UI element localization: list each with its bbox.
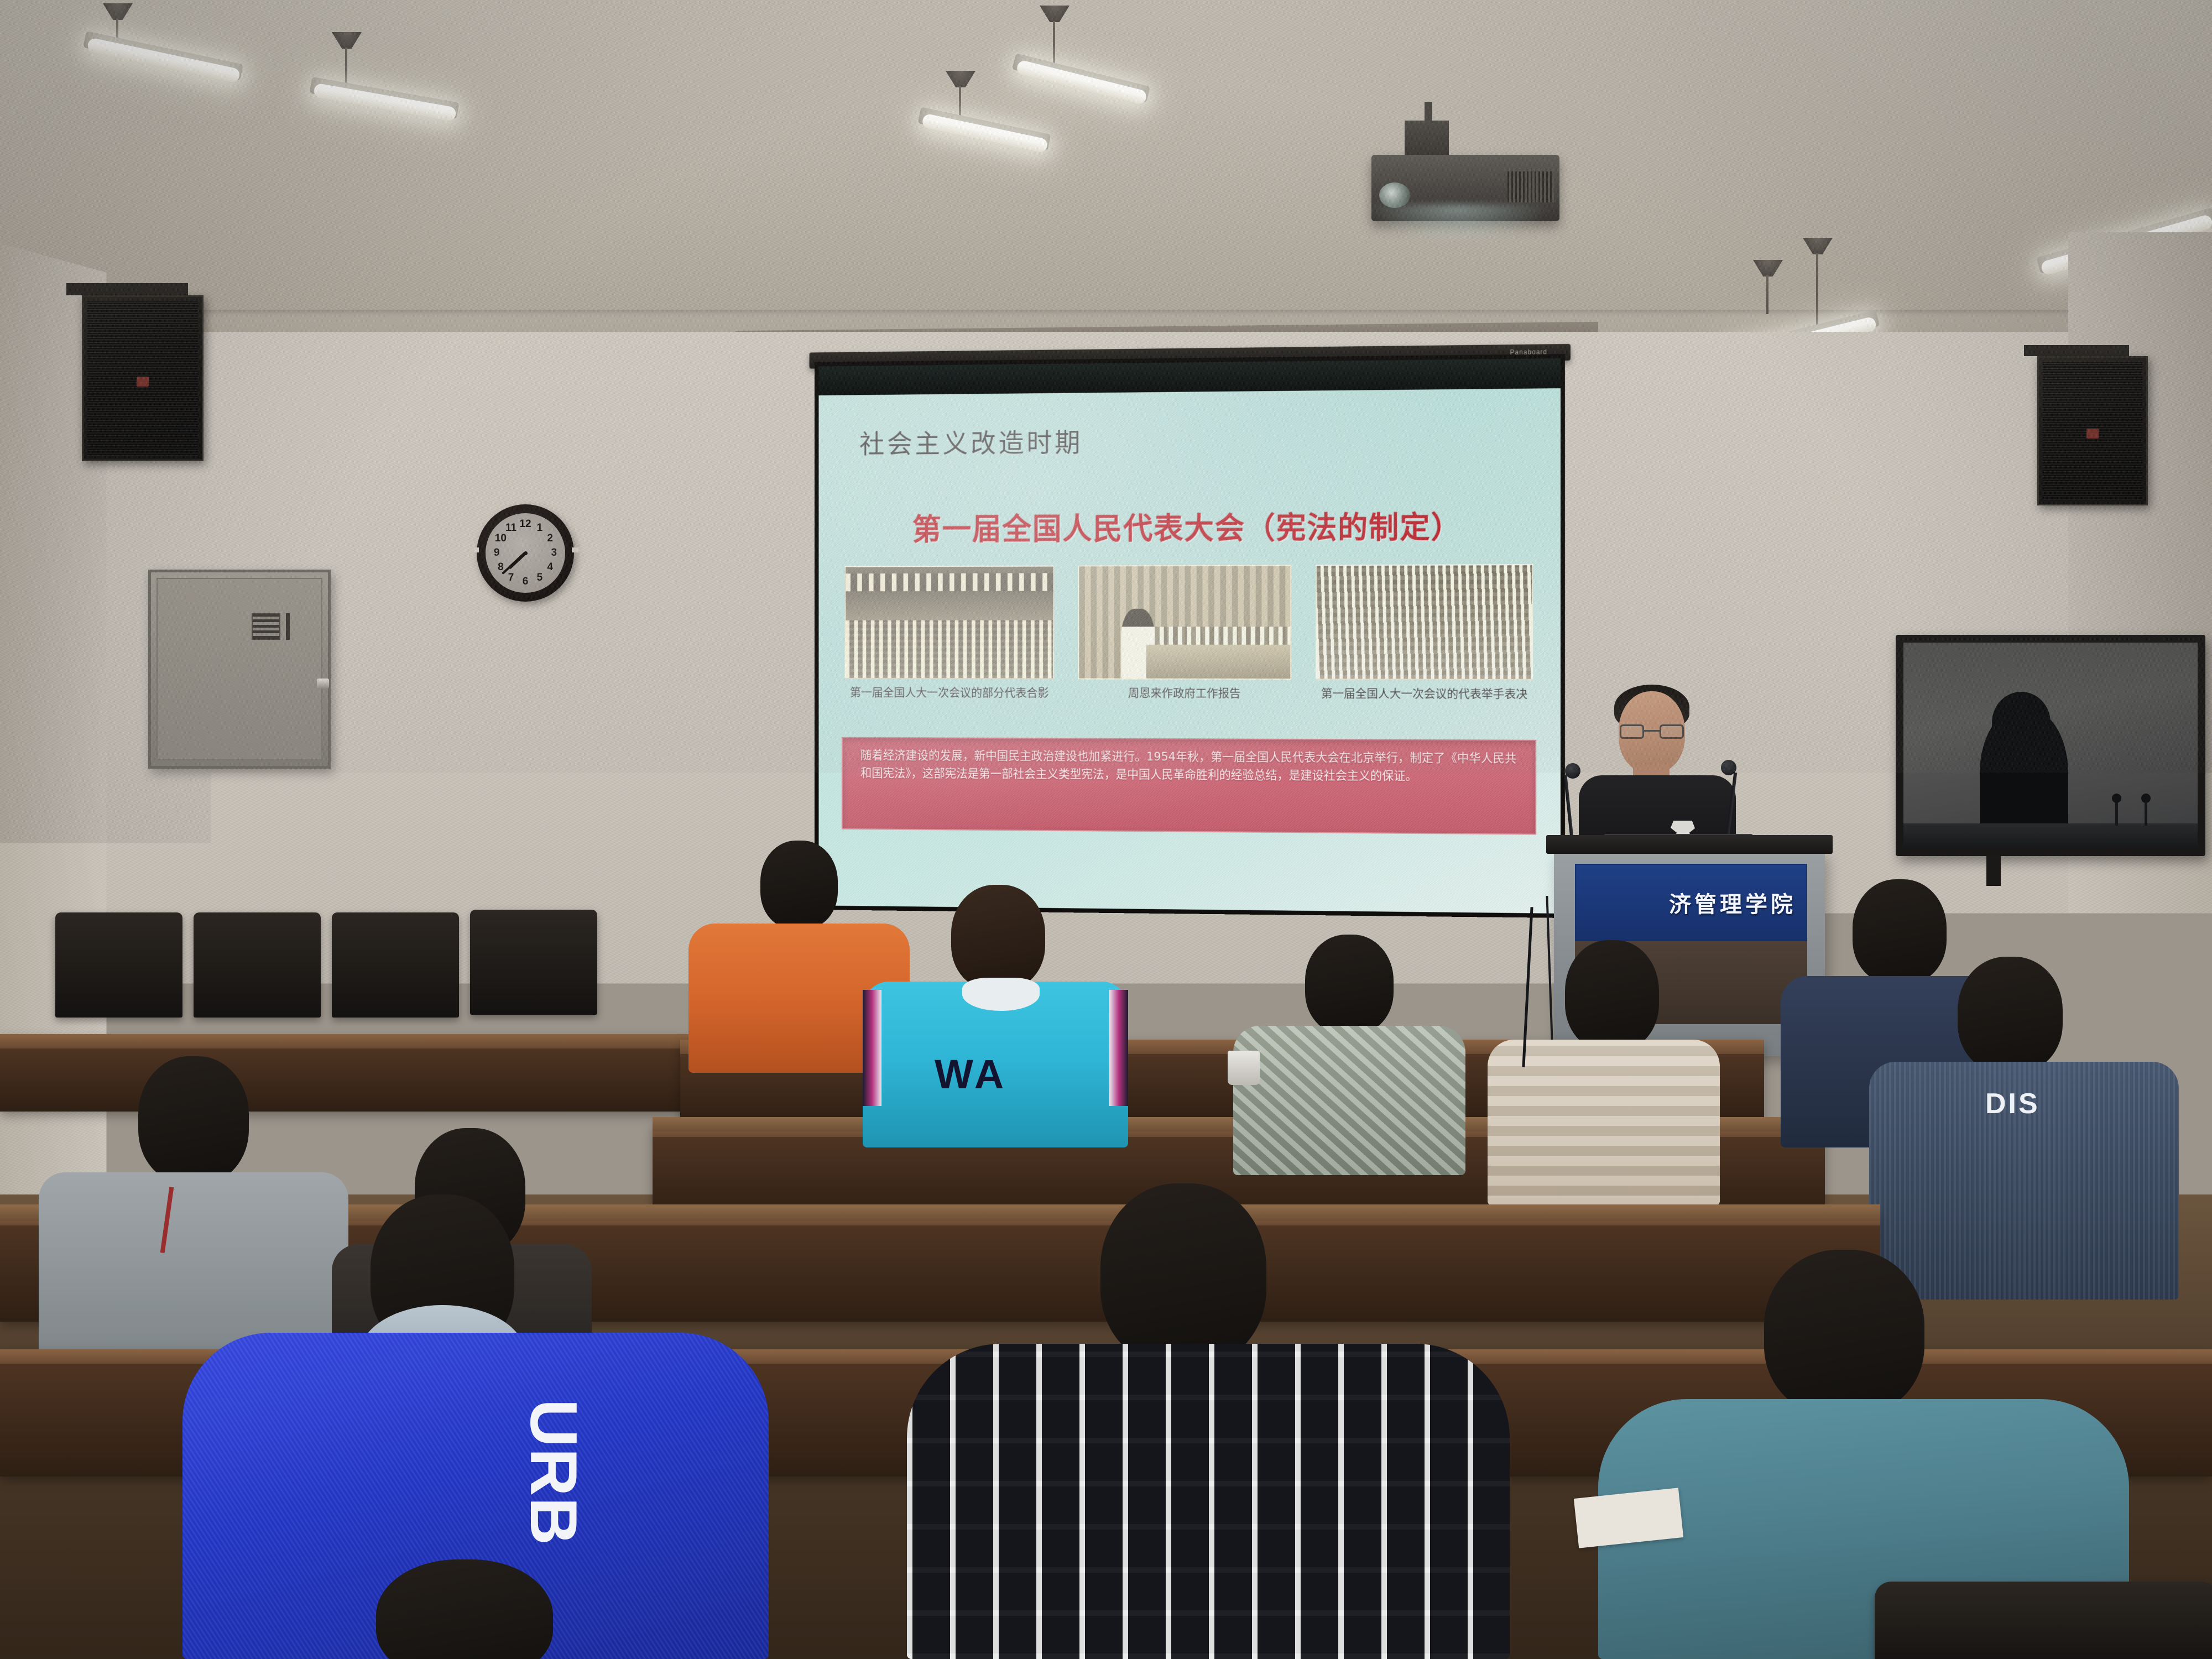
- water-cup[interactable]: [1228, 1051, 1260, 1085]
- student-head: [1305, 935, 1394, 1034]
- podium-top-slab: [1546, 835, 1833, 854]
- clock-numeral: 4: [547, 561, 553, 573]
- historic-raised-hands: [1317, 565, 1532, 679]
- projector-vent: [1507, 171, 1554, 202]
- seatback-front-far-right[interactable]: [1875, 1582, 2212, 1659]
- denim-jacket-text: DIS: [1985, 1087, 2040, 1120]
- slide-caption-2: 周恩来作政府工作报告: [1078, 685, 1291, 735]
- clock-numeral: 1: [537, 522, 543, 534]
- student-bottom-center: [343, 1559, 586, 1659]
- presentation-slide: 社会主义改造时期 第一届全国人民代表大会（宪法的制定） 第一届全国人大一次会议的…: [819, 388, 1561, 914]
- lecture-hall-scene: 12 1 2 3 4 5 6 7 8 9 10 11 Panaboard: [0, 0, 2212, 1659]
- seatback[interactable]: [332, 912, 459, 1018]
- clock-numeral: 12: [519, 518, 531, 530]
- cabinet-slot: [286, 613, 290, 640]
- student-head: [760, 841, 838, 929]
- podium-banner-text: 济管理学院: [1669, 886, 1796, 919]
- seatback-front-right[interactable]: [1172, 1571, 1725, 1659]
- clock-numeral: 3: [551, 547, 557, 559]
- student-head: [1958, 957, 2063, 1073]
- clock-lug-left: [472, 547, 479, 552]
- slide-caption-1: 第一届全国人大一次会议的部分代表合影: [845, 684, 1055, 734]
- podium-banner: 济管理学院: [1575, 864, 1807, 941]
- slide-title: 第一届全国人民代表大会（宪法的制定）: [819, 502, 1561, 549]
- projection-screen: Panaboard 社会主义改造时期 第一届全国人民代表大会（宪法的制定）: [815, 354, 1565, 918]
- projector-light-glow: [1366, 205, 1548, 243]
- student-cyan-jersey: WA: [863, 885, 1128, 1145]
- historic-audience-row: [1150, 627, 1290, 647]
- student-head: [1565, 940, 1659, 1051]
- clock-numeral: 2: [547, 533, 553, 545]
- podium-mic-head-left: [1565, 763, 1580, 779]
- glasses-lens-left: [1620, 724, 1644, 739]
- speaker-bracket: [66, 283, 188, 295]
- student-garment-floral-top: [1233, 1026, 1465, 1175]
- clock-numeral: 11: [505, 522, 517, 534]
- slide-caption-3: 第一届全国人大一次会议的代表举手表决: [1316, 685, 1533, 737]
- glasses-lens-right: [1660, 724, 1684, 739]
- clock-numeral: 7: [508, 572, 514, 584]
- slide-photo-raised-hands: [1316, 564, 1533, 680]
- electrical-cabinet[interactable]: [148, 570, 331, 769]
- wall-monitor[interactable]: [1896, 635, 2205, 856]
- hoodie-text: URB: [515, 1399, 592, 1546]
- bench-ledge: [0, 1034, 697, 1048]
- pendant-stem: [1766, 275, 1768, 314]
- student-head: [1764, 1250, 1924, 1416]
- slide-heading: 社会主义改造时期: [859, 421, 1083, 461]
- student-head: [376, 1559, 553, 1659]
- student-head: [138, 1056, 249, 1183]
- cabinet-door[interactable]: [156, 578, 322, 760]
- student-head: [951, 885, 1045, 990]
- slide-photo-row: [845, 564, 1533, 680]
- slide-photo-rostrum-speech: [1078, 565, 1291, 680]
- jersey-stripe-right: [1109, 990, 1128, 1106]
- slide-red-text-box: 随着经济建设的发展，新中国民主政治建设也加紧进行。1954年秋，第一届全国人民代…: [842, 737, 1536, 835]
- wall-speaker-left: [82, 295, 204, 461]
- historic-crowd: [846, 620, 1053, 678]
- podium-mic-head-right: [1721, 760, 1736, 775]
- jersey-stripe-left: [863, 990, 881, 1106]
- monitor-mic-icon: [2115, 800, 2118, 826]
- presenter-glasses: [1620, 724, 1684, 739]
- monitor-mic-icon: [2145, 800, 2147, 826]
- wall-clock: 12 1 2 3 4 5 6 7 8 9 10 11: [477, 504, 574, 602]
- student-head: [1100, 1183, 1266, 1366]
- speaker-logo: [137, 377, 149, 387]
- clock-numeral: 10: [495, 533, 507, 545]
- slide-photo-group-assembly: [845, 566, 1055, 680]
- wall-speaker-right: [2037, 356, 2148, 505]
- projector-mount-plate: [1405, 121, 1449, 155]
- student-denim-jacket: DIS: [1869, 957, 2179, 1300]
- clock-numeral: 9: [494, 547, 500, 559]
- historic-banner: [846, 573, 1053, 592]
- seatback[interactable]: [470, 910, 597, 1015]
- speaker-logo: [2086, 429, 2099, 439]
- slide-caption-row: 第一届全国人大一次会议的部分代表合影 周恩来作政府工作报告 第一届全国人大一次会…: [845, 684, 1533, 736]
- jersey-white-collar: [962, 978, 1040, 1011]
- monitor-panel: [1903, 643, 2198, 848]
- student-beige-puffer: [1488, 940, 1720, 1200]
- ceiling: [0, 0, 2212, 354]
- historic-desk: [1146, 645, 1290, 679]
- clock-face: 12 1 2 3 4 5 6 7 8 9 10 11: [486, 513, 565, 593]
- glasses-bridge: [1644, 730, 1660, 732]
- ceiling-texture: [0, 0, 2212, 354]
- cabinet-vent-icon: [252, 613, 280, 640]
- cabinet-handle[interactable]: [317, 679, 329, 688]
- clock-lug-right: [572, 547, 578, 552]
- clock-numeral: 5: [537, 572, 543, 584]
- seatback[interactable]: [55, 912, 182, 1018]
- jersey-text: WA: [935, 1051, 1007, 1098]
- speaker-bracket: [2024, 345, 2129, 356]
- clock-numeral: 6: [523, 576, 529, 588]
- student-floral-top: [1233, 935, 1465, 1172]
- monitor-desk: [1903, 823, 2198, 848]
- seatback[interactable]: [194, 912, 321, 1018]
- clock-center-pin: [524, 551, 528, 555]
